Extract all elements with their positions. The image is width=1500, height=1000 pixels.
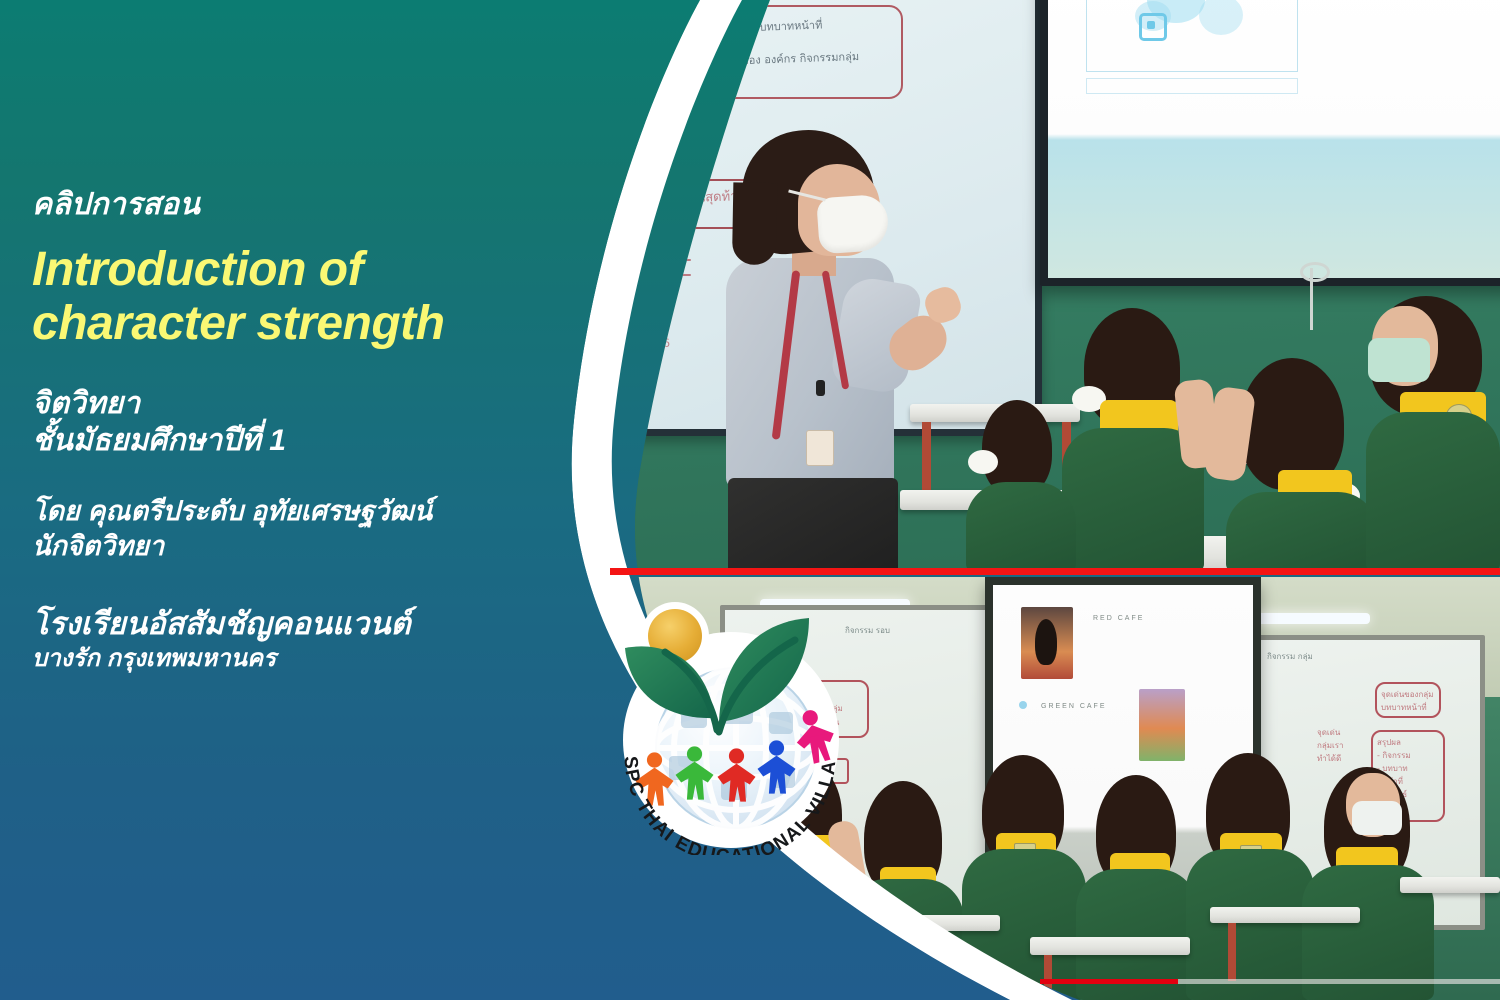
school-name: โรงเรียนอัสสัมชัญคอนแวนต์ [32,606,612,643]
subject-block: จิตวิทยา ชั้นมัธยมศึกษาปีที่ 1 [32,385,612,461]
video-progress-track[interactable] [1040,979,1500,984]
teacher-face-mask [816,194,890,255]
screen-pull-ring [1300,262,1330,282]
slide-textbar [1086,78,1298,94]
slide-frame [1086,0,1298,72]
slide-icon [1139,13,1167,41]
spc-thai-educational-village-logo: SPC THAI EDUCATIONAL VILLAGE [603,600,853,855]
kicker-label: คลิปการสอน [32,188,612,221]
slide-image-right [1139,689,1185,761]
photo-separator-line [610,568,1500,575]
byline-block: โดย คุณตรีประดับ อุทัยเศรษฐวัฒน์ นักจิตว… [32,494,612,564]
photo-top-teacher: หน่วยที่ 1 จิตวิทยา RSC การทำงาน บทบาทหน… [610,0,1500,572]
instructor-name: โดย คุณตรีประดับ อุทัยเศรษฐวัฒน์ [32,494,612,529]
text-column: คลิปการสอน Introduction of character str… [32,188,612,674]
cover-slide: หน่วยที่ 1 จิตวิทยา RSC การทำงาน บทบาทหน… [0,0,1500,1000]
teacher-id-badge [806,430,834,466]
instructor-role: นักจิตวิทยา [32,529,612,564]
page-title: Introduction of character strength [32,243,612,351]
school-district: บางรัก กรุงเทพมหานคร [32,645,612,674]
teacher-microphone [816,380,825,396]
slide-caption-2: GREEN CAFE [1041,703,1107,710]
slide-image-left [1021,607,1073,679]
projection-screen [1040,0,1500,286]
slide-caption-1: RED CAFE [1093,615,1144,622]
video-progress-fill [1040,979,1178,984]
title-line-2: character strength [32,297,612,351]
grade-level: ชั้นมัธยมศึกษาปีที่ 1 [32,422,612,460]
subject-name: จิตวิทยา [32,385,612,423]
title-line-1: Introduction of [32,243,612,297]
